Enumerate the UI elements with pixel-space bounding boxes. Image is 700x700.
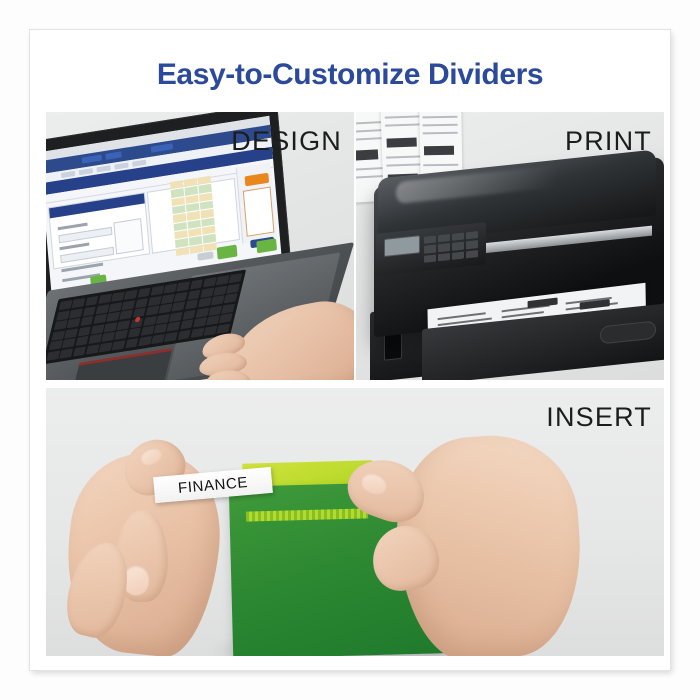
panel-label-insert: INSERT	[546, 402, 652, 433]
tray-handle[interactable]	[600, 321, 656, 345]
form-panel	[48, 192, 150, 269]
primary-button[interactable]	[256, 238, 277, 253]
primary-button[interactable]	[217, 245, 238, 260]
panel-label-design: DESIGN	[231, 126, 342, 157]
form-field-label	[59, 243, 89, 251]
form-field-label	[61, 263, 103, 273]
label-text: FINANCE	[177, 473, 248, 496]
form-preview-box	[113, 218, 143, 254]
page-title: Easy-to-Customize Dividers	[30, 58, 670, 92]
printer-lcd-display	[384, 235, 420, 257]
panel-design: DESIGN	[46, 112, 354, 380]
form-field-label	[58, 223, 88, 231]
template-preview	[147, 178, 240, 254]
divider-tab-grid	[169, 176, 217, 256]
printer-buttons[interactable]	[424, 231, 478, 263]
form-input[interactable]	[60, 247, 114, 263]
template-thumbnail	[243, 186, 275, 236]
panel-insert: FINANCE INSERT	[46, 388, 664, 656]
panel-label-print: PRINT	[565, 126, 652, 157]
product-image-canvas: Easy-to-Customize Dividers	[0, 0, 700, 700]
laptop-illustration	[46, 120, 354, 380]
secondary-button[interactable]	[197, 251, 213, 260]
panel-print: PRINT	[356, 112, 664, 380]
form-input[interactable]	[58, 227, 112, 243]
product-card: Easy-to-Customize Dividers	[30, 30, 670, 670]
